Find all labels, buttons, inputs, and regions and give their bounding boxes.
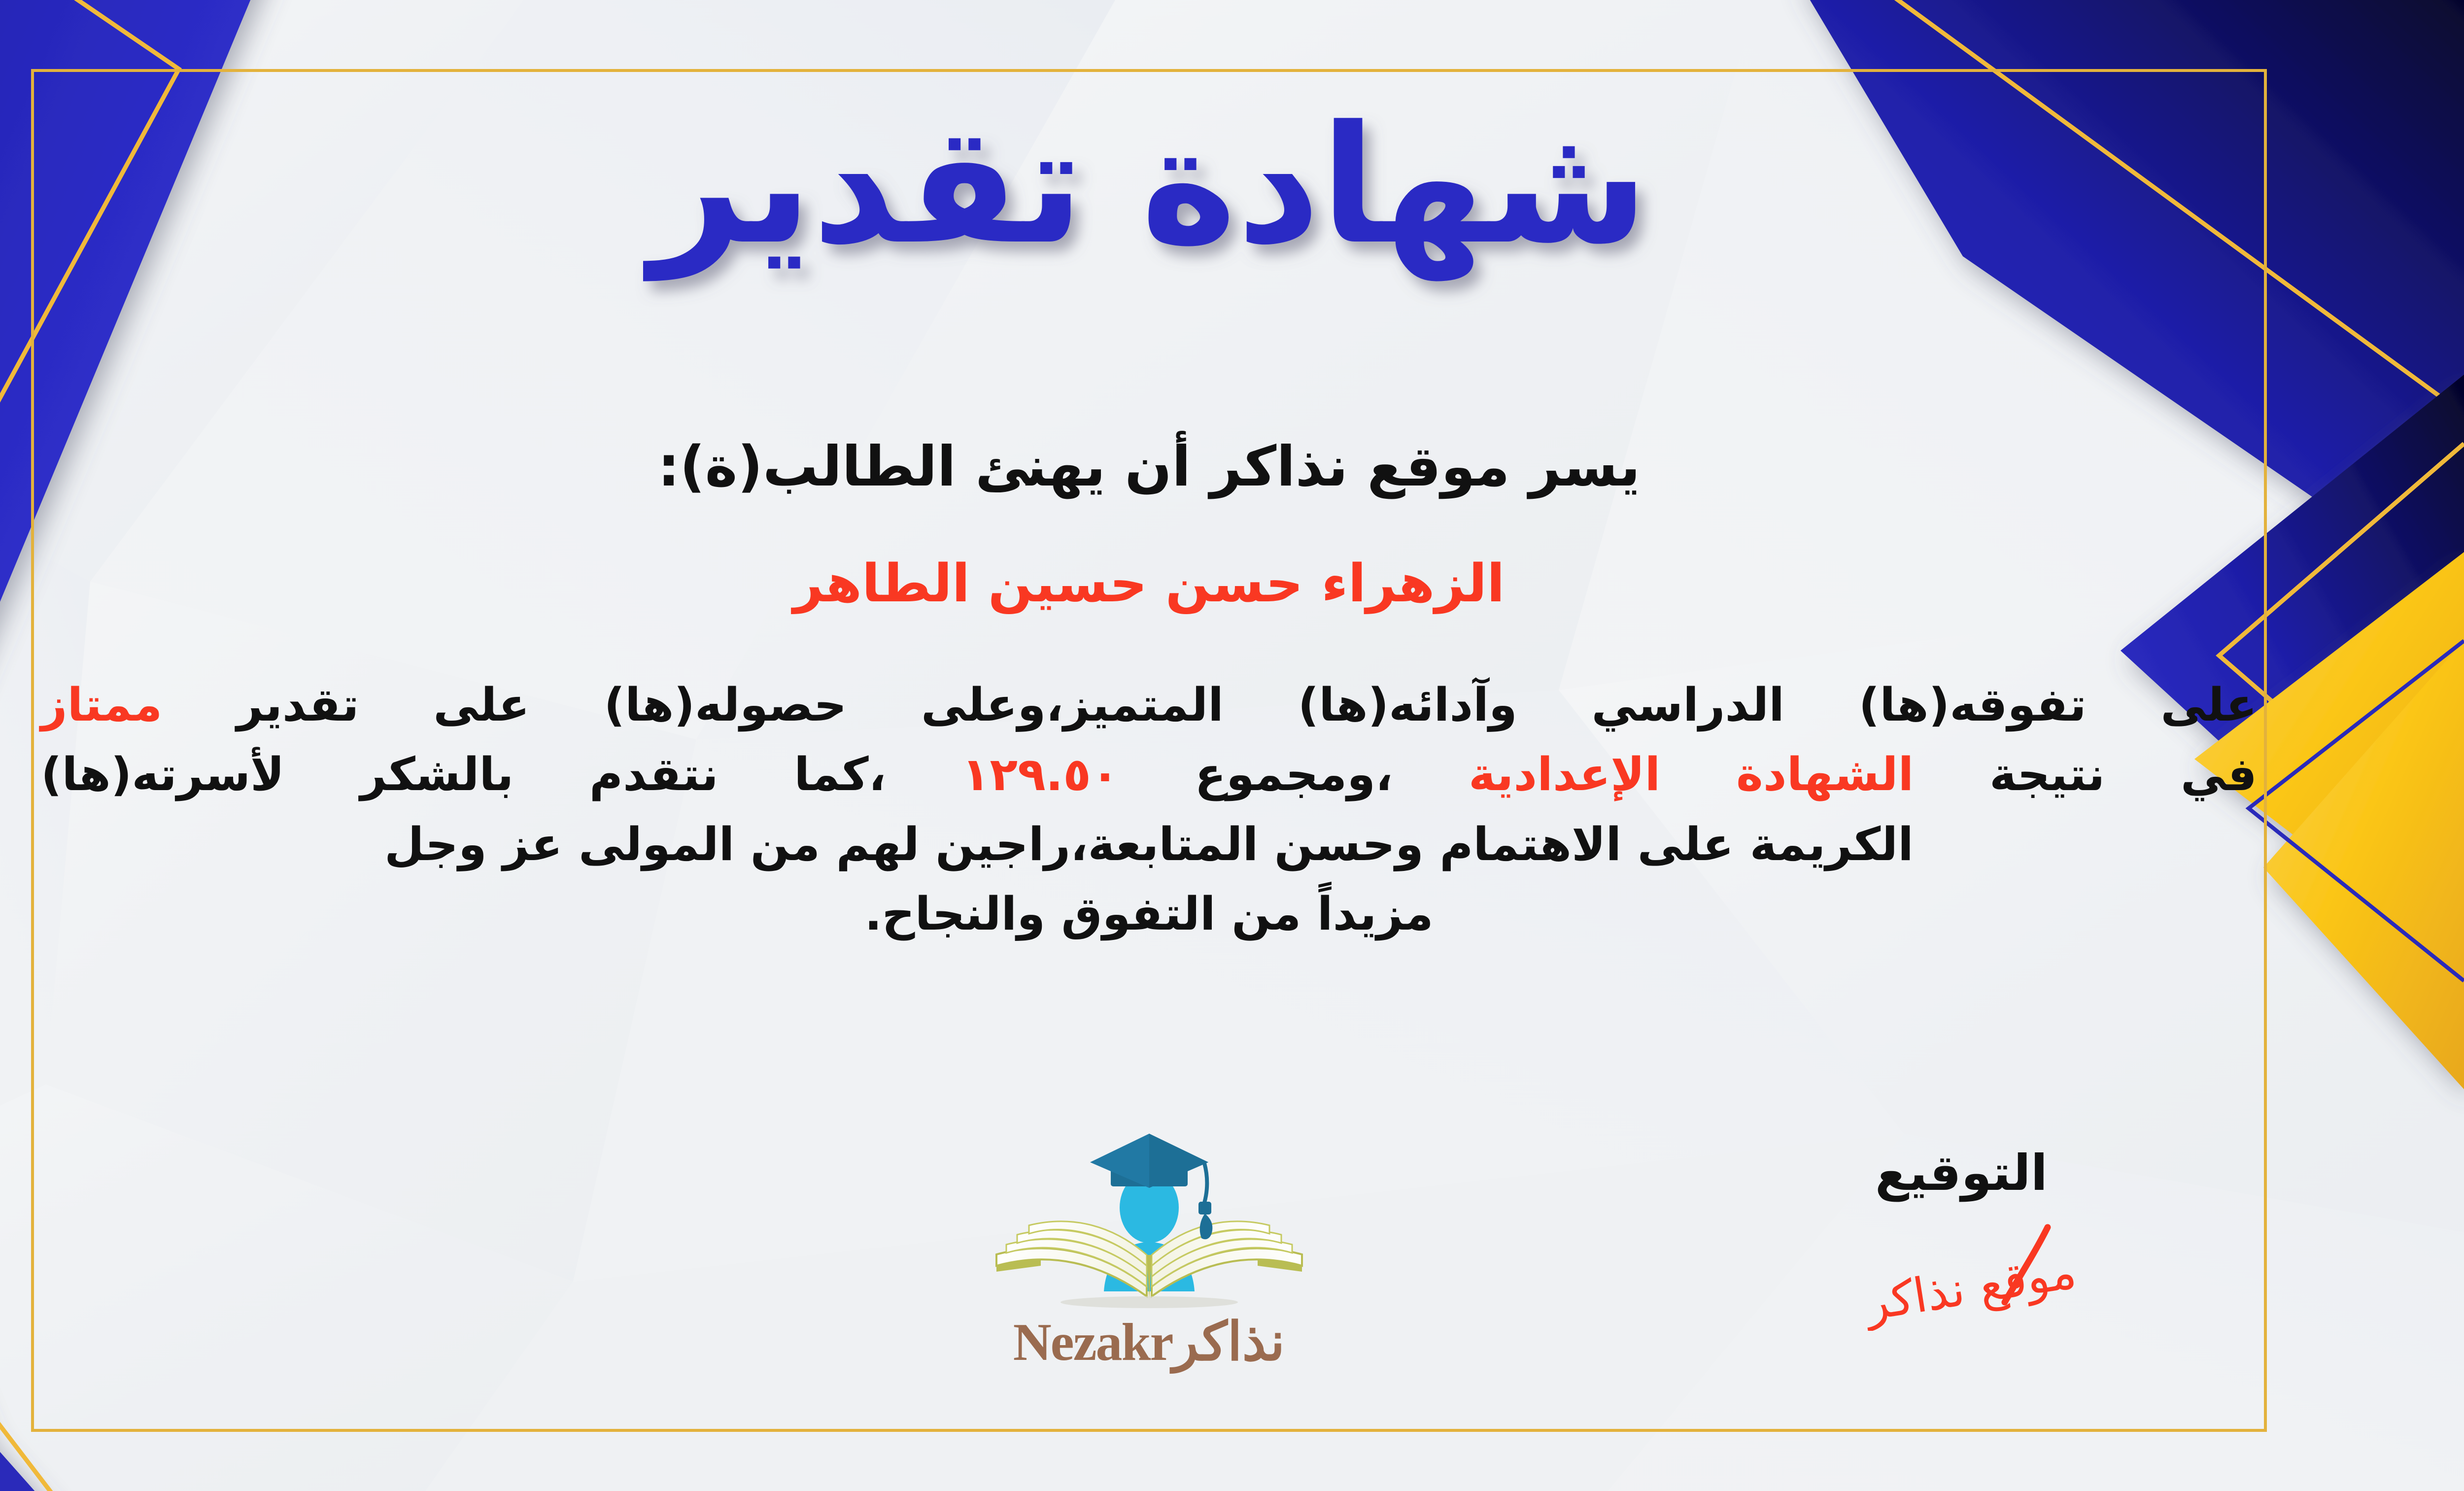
body-line-3: الكريمة على الاهتمام وحسن المتابعة،راجين…: [41, 810, 2257, 879]
certificate-canvas: شهادة تقدير يسر موقع نذاكر أن يهنئ الطال…: [0, 0, 2464, 1491]
body-line-1: على تفوقه(ها) الدراسي وآدائه(ها) المتميز…: [41, 670, 2257, 740]
handwritten-signature-icon: موقع نذاكر: [1823, 1217, 2099, 1331]
exam-name: الشهادة الإعدادية: [1469, 748, 1914, 801]
grade-word: ممتاز: [41, 678, 162, 731]
certificate-body: على تفوقه(ها) الدراسي وآدائه(ها) المتميز…: [41, 670, 2257, 949]
logo-wordmark-latin: Nezakr: [1013, 1313, 1173, 1372]
body-line-4: مزيداً من التفوق والنجاح.: [41, 879, 2257, 949]
signature-label: التوقيع: [1774, 1148, 2149, 1198]
body-line-2: في نتيجة الشهادة الإعدادية ،ومجموع ١٢٩.٥…: [41, 740, 2257, 809]
title-calligraphy: شهادة تقدير: [607, 59, 1691, 315]
signature-block: التوقيع موقع نذاكر: [1774, 1148, 2149, 1331]
intro-line: يسر موقع نذاكر أن يهنئ الطالب(ة):: [0, 434, 2464, 500]
title-text: شهادة تقدير: [642, 91, 1648, 282]
body-line-2-prefix: في نتيجة: [1989, 748, 2257, 801]
student-name: الزهراء حسن حسين الطاهر: [0, 552, 2464, 615]
body-line-2-mid: ،ومجموع: [1195, 748, 1393, 801]
signature-text: موقع نذاكر: [1859, 1244, 2080, 1331]
logo-wordmark: نذاكرNezakr: [1013, 1311, 1285, 1373]
nezakr-logo: نذاكرNezakr: [932, 1129, 1366, 1405]
body-line-1-text: على تفوقه(ها) الدراسي وآدائه(ها) المتميز…: [237, 678, 2257, 731]
logo-wordmark-arabic: نذاكر: [1173, 1313, 1285, 1372]
total-score: ١٢٩.٥٠: [962, 748, 1119, 801]
body-line-2-suffix: ،كما نتقدم بالشكر لأسرته(ها): [41, 748, 886, 801]
graduation-book-icon: [977, 1129, 1322, 1316]
signature-mark: موقع نذاكر: [1774, 1217, 2149, 1331]
certificate-title: شهادة تقدير: [0, 54, 2464, 320]
